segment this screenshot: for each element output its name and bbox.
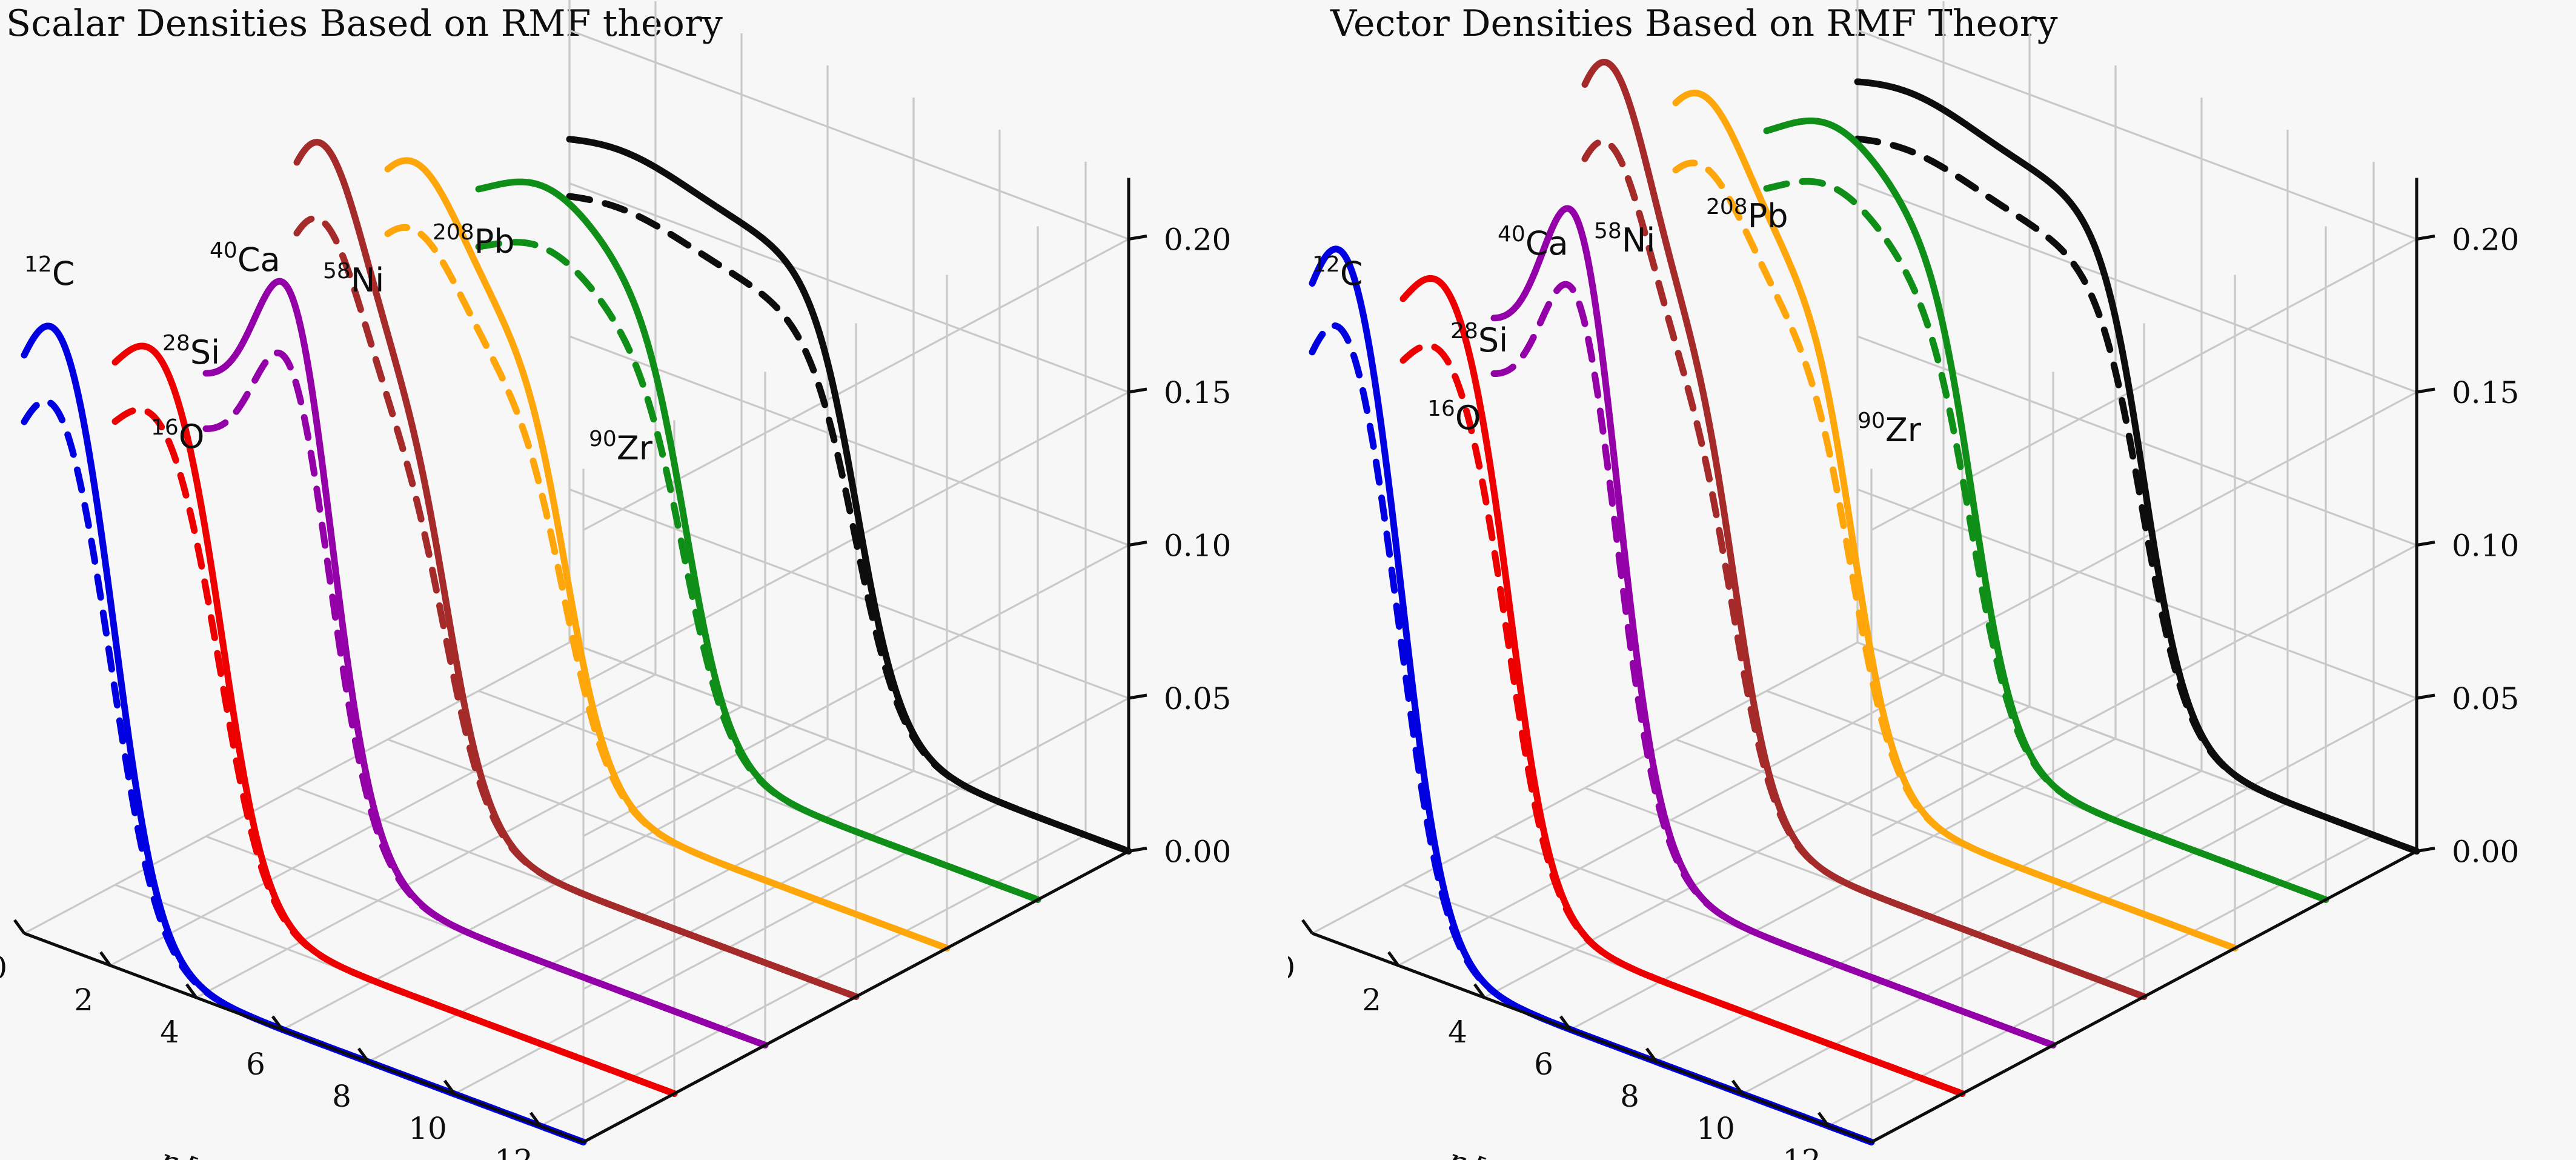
z-tick-label: 0.15 bbox=[1164, 375, 1231, 410]
nucleus-label-text: 58Ni bbox=[1594, 219, 1655, 259]
density-curves bbox=[1312, 62, 2417, 1142]
nucleus-label-text: 40Ca bbox=[210, 238, 281, 279]
density-curve-208Pb-solid bbox=[1857, 82, 2417, 852]
z-axis-tick bbox=[1129, 542, 1147, 545]
x-tick-label: 4 bbox=[1448, 1015, 1467, 1050]
x-tick-label: 6 bbox=[1534, 1047, 1553, 1082]
x-axis-title: r [fm] bbox=[1442, 1142, 1541, 1160]
gridline-back-horizontal bbox=[1857, 184, 2417, 393]
z-tick-label: 0.00 bbox=[2452, 835, 2519, 870]
nucleus-label-58Ni: 58Ni bbox=[1594, 219, 1655, 259]
nucleus-label-90Zr: 90Zr bbox=[589, 427, 653, 467]
x-tick-label: 2 bbox=[74, 982, 93, 1018]
density-curve-12C-solid bbox=[24, 326, 583, 1142]
z-axis-tick bbox=[1129, 848, 1147, 852]
nucleus-label-90Zr: 90Zr bbox=[1857, 408, 1922, 449]
x-axis-title-text: r [fm] bbox=[1442, 1142, 1541, 1160]
figure-root: Scalar Densities Based on RMF theory 024… bbox=[0, 0, 2576, 1160]
nucleus-label-text: 28Si bbox=[1450, 319, 1508, 359]
x-tick-label: 8 bbox=[332, 1079, 351, 1114]
x-tick-label: 0 bbox=[1288, 950, 1295, 985]
density-curve-208Pb-dashed bbox=[1857, 139, 2417, 851]
plot-3d-scalar: 024681012r [fm]0.000.050.100.150.20Densi… bbox=[0, 0, 1288, 1160]
z-axis-tick bbox=[1129, 695, 1147, 698]
z-tick-label: 0.20 bbox=[2452, 222, 2519, 258]
z-tick-label: 0.05 bbox=[2452, 681, 2519, 716]
nucleus-label-28Si: 28Si bbox=[162, 331, 220, 372]
nucleus-label-16O: 16O bbox=[151, 415, 204, 456]
density-curve-40Ca-solid bbox=[1585, 62, 2144, 997]
nucleus-label-208Pb: 208Pb bbox=[433, 220, 515, 261]
panel-vector-densities: Vector Densities Based on RMF Theory 024… bbox=[1288, 0, 2576, 1160]
gridline-back-horizontal bbox=[1857, 30, 2417, 239]
x-tick-label: 6 bbox=[246, 1047, 265, 1082]
density-curve-12C-solid bbox=[1312, 249, 1871, 1142]
z-axis-tick bbox=[1129, 236, 1147, 239]
nucleus-label-text: 16O bbox=[1427, 396, 1481, 437]
nucleus-label-text: 208Pb bbox=[433, 220, 515, 261]
nucleus-label-text: 12C bbox=[1312, 252, 1363, 293]
plot-3d-vector: 024681012r [fm]0.000.050.100.150.20Densi… bbox=[1288, 0, 2576, 1160]
z-tick-label: 0.10 bbox=[1164, 528, 1231, 564]
nucleus-label-text: 40Ca bbox=[1498, 222, 1569, 262]
z-tick-label: 0.15 bbox=[2452, 375, 2519, 410]
nucleus-label-text: 12C bbox=[24, 252, 75, 293]
z-axis-tick bbox=[2417, 236, 2435, 239]
x-tick-label: 2 bbox=[1362, 982, 1381, 1018]
density-curve-28Si-solid bbox=[1494, 208, 2053, 1045]
x-tick-label: 10 bbox=[408, 1111, 447, 1146]
nucleus-label-28Si: 28Si bbox=[1450, 319, 1508, 359]
z-tick-label: 0.00 bbox=[1164, 835, 1231, 870]
density-curves bbox=[24, 139, 1129, 1142]
nucleus-label-58Ni: 58Ni bbox=[323, 259, 384, 299]
x-tick-label: 12 bbox=[1782, 1143, 1821, 1160]
x-axis-title-text: r [fm] bbox=[154, 1142, 253, 1160]
z-tick-label: 0.10 bbox=[2452, 528, 2519, 564]
nucleus-label-text: 90Zr bbox=[1857, 408, 1922, 449]
z-axis-tick bbox=[2417, 848, 2435, 852]
x-axis-tick bbox=[1303, 920, 1312, 933]
nucleus-label-16O: 16O bbox=[1427, 396, 1481, 437]
gridline-back-horizontal bbox=[1857, 490, 2417, 699]
x-tick-label: 12 bbox=[494, 1143, 533, 1160]
z-axis-tick bbox=[2417, 542, 2435, 545]
z-tick-label: 0.05 bbox=[1164, 681, 1231, 716]
nucleus-label-12C: 12C bbox=[24, 252, 75, 293]
nucleus-label-text: 58Ni bbox=[323, 259, 384, 299]
z-tick-label: 0.20 bbox=[1164, 222, 1231, 258]
density-curve-40Ca-dashed bbox=[1585, 141, 2144, 996]
nucleus-label-208Pb: 208Pb bbox=[1706, 195, 1788, 235]
nucleus-label-text: 90Zr bbox=[589, 427, 653, 467]
nucleus-label-text: 208Pb bbox=[1706, 195, 1788, 235]
gridline-back-horizontal bbox=[569, 30, 1129, 239]
z-axis-tick bbox=[2417, 695, 2435, 698]
nucleus-label-40Ca: 40Ca bbox=[1498, 222, 1569, 262]
density-curve-12C-dashed bbox=[1312, 325, 1871, 1142]
nucleus-label-12C: 12C bbox=[1312, 252, 1363, 293]
nucleus-label-text: 16O bbox=[151, 415, 204, 456]
x-tick-label: 4 bbox=[160, 1015, 179, 1050]
z-axis-tick bbox=[2417, 389, 2435, 392]
x-tick-label: 10 bbox=[1696, 1111, 1735, 1146]
density-curve-90Zr-dashed bbox=[479, 242, 1038, 900]
x-axis-title: r [fm] bbox=[154, 1142, 253, 1160]
z-axis-tick bbox=[1129, 389, 1147, 392]
nucleus-label-40Ca: 40Ca bbox=[210, 238, 281, 279]
gridline-back-horizontal bbox=[569, 490, 1129, 699]
nucleus-label-text: 28Si bbox=[162, 331, 220, 372]
x-tick-label: 8 bbox=[1620, 1079, 1639, 1114]
x-axis-tick bbox=[15, 920, 24, 933]
panel-scalar-densities: Scalar Densities Based on RMF theory 024… bbox=[0, 0, 1288, 1160]
x-tick-label: 0 bbox=[0, 950, 7, 985]
